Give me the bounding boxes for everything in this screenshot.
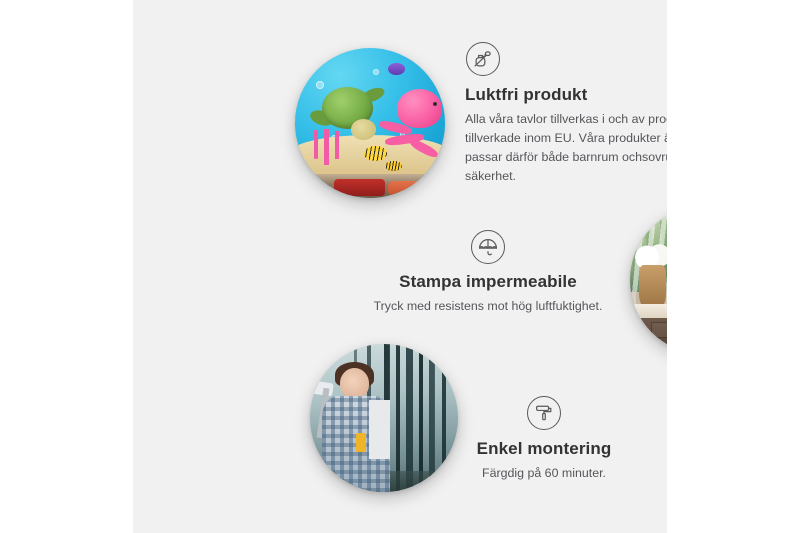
feature-waterproof: Stampa impermeabile Tryck med resistens …	[343, 230, 633, 316]
person-inner-shirt	[369, 400, 390, 459]
feature-assembly: Enkel montering Färgdig på 60 minuter.	[429, 396, 659, 483]
yellow-striped-fish-icon	[364, 146, 387, 161]
photo-artwork-bathroom	[630, 206, 667, 354]
person-face	[340, 368, 370, 399]
underwater-cartoon-mural-photo	[295, 48, 445, 198]
feature-odourless: Luktfri produkt Alla våra tavlor tillver…	[465, 42, 667, 186]
feature-description: Alla våra tavlor tillverkas i och av pro…	[465, 110, 667, 185]
bathroom-vanity-wallpaper-photo	[630, 206, 667, 354]
hand-tool-icon	[356, 433, 366, 452]
feature-title: Luktfri produkt	[465, 85, 667, 105]
paint-roller-icon	[527, 396, 561, 430]
umbrella-icon	[471, 230, 505, 264]
pink-coral-icon	[310, 129, 346, 165]
feature-title: Stampa impermeabile	[343, 272, 633, 292]
infographic-canvas: Luktfri produkt Alla våra tavlor tillver…	[0, 0, 800, 533]
no-odour-perfume-bottle-icon	[466, 42, 500, 76]
turtle-head-icon	[351, 119, 377, 140]
cabinet-drawer	[651, 322, 667, 338]
content-panel: Luktfri produkt Alla våra tavlor tillver…	[133, 0, 667, 533]
photo-artwork-sea	[295, 48, 445, 198]
wooden-cabinet	[639, 318, 667, 354]
octopus-head-icon	[397, 89, 442, 128]
vase-icon	[639, 265, 666, 309]
bubble-icon	[373, 69, 379, 75]
octopus-eye-icon	[433, 102, 437, 106]
feature-description: Tryck med resistens mot hög luftfuktighe…	[343, 297, 633, 316]
yellow-striped-fish-icon	[385, 161, 402, 172]
purple-fish-icon	[388, 63, 405, 75]
feature-description: Färgdig på 60 minuter.	[429, 464, 659, 483]
room-furniture-strip	[295, 174, 445, 198]
feature-title: Enkel montering	[429, 439, 659, 459]
bubble-icon	[316, 81, 324, 89]
